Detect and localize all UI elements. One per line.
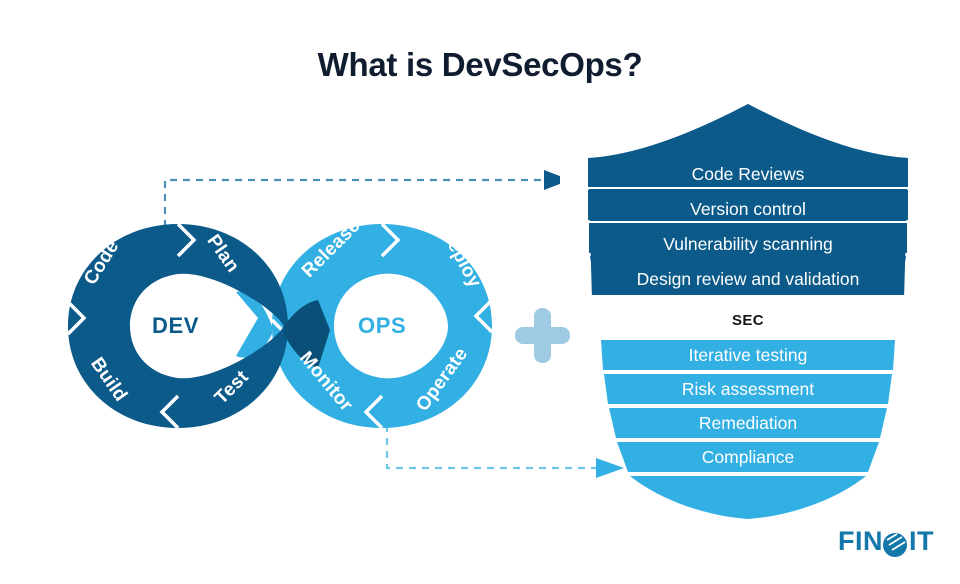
- logo-text-before: FIN: [838, 528, 883, 555]
- plus-icon: [515, 308, 570, 363]
- finoit-logo: FIN IT: [838, 528, 934, 555]
- diagram-graphics: [0, 0, 960, 584]
- ops-center-label: OPS: [358, 313, 406, 339]
- sec-label: SEC: [583, 312, 913, 329]
- shield-bottom-label-1: Risk assessment: [583, 379, 913, 400]
- shield-bottom-label-2: Remediation: [583, 413, 913, 434]
- shield-bottom-label-0: Iterative testing: [583, 345, 913, 366]
- shield-top-label-2: Vulnerability scanning: [583, 234, 913, 255]
- shield-top-label-3: Design review and validation: [583, 269, 913, 290]
- shield-top-label-0: Code Reviews: [583, 164, 913, 185]
- shield-top-label-1: Version control: [583, 199, 913, 220]
- logo-text-after: IT: [909, 528, 934, 555]
- infographic-canvas: What is DevSecOps?: [0, 0, 960, 584]
- dev-center-label: DEV: [152, 313, 199, 339]
- shield-bottom-label-3: Compliance: [583, 447, 913, 468]
- logo-globe-placeholder: [884, 530, 908, 554]
